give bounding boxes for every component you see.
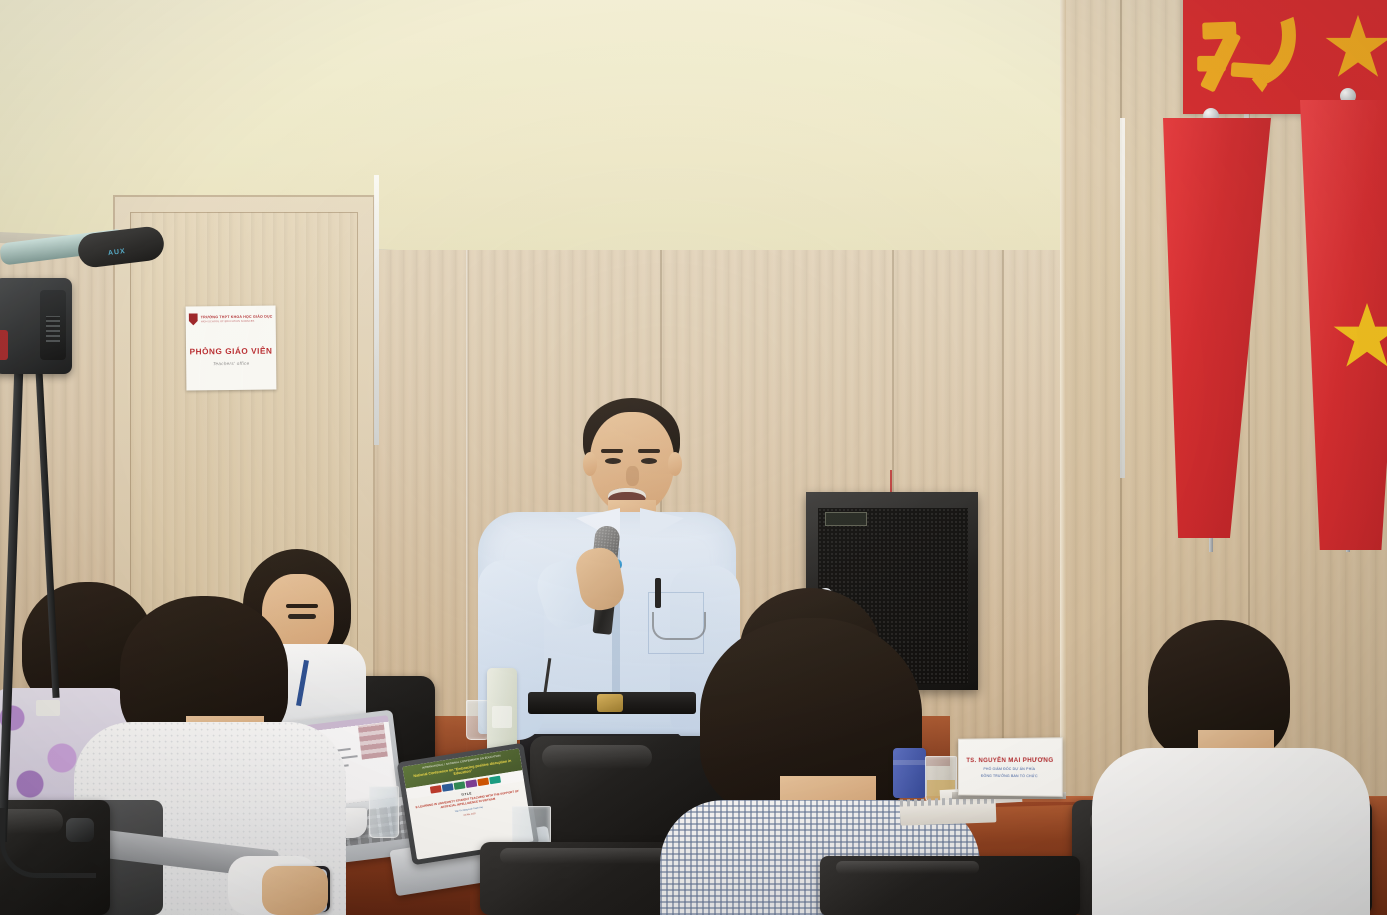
attendee-1-brow — [286, 604, 318, 608]
drinking-glass — [369, 786, 399, 838]
sign-subtitle: Teachers' office — [213, 361, 250, 366]
speaker-nose — [626, 466, 639, 486]
sign-logo-row: TRƯỜNG THPT KHOA HỌC GIÁO DỤC HIGH SCHOO… — [189, 313, 273, 326]
camera-vent — [46, 316, 60, 342]
tumbler-band — [893, 760, 926, 765]
sign-organization-sub: HIGH SCHOOL OF EDUCATION SCIENCES — [201, 320, 273, 324]
hammer-and-sickle-icon — [1192, 6, 1322, 111]
wall-sign: TRƯỜNG THPT KHOA HỌC GIÁO DỤC HIGH SCHOO… — [186, 306, 277, 391]
speaker-ear-right — [668, 452, 682, 476]
attendee-5-body — [1092, 748, 1370, 915]
sponsor-logo-icon — [489, 776, 501, 785]
glasses-icon — [652, 612, 706, 640]
school-crest-icon — [189, 313, 198, 325]
sponsor-logo-icon — [465, 779, 477, 788]
bottle-label — [492, 706, 512, 728]
nameplate-line-2: ĐỒNG TRƯỞNG BAN TỔ CHỨC — [981, 773, 1038, 777]
sign-organization: TRƯỜNG THPT KHOA HỌC GIÁO DỤC — [201, 314, 273, 319]
attendee-1-eye — [288, 614, 316, 619]
conference-room-photo: TRƯỜNG THPT KHOA HỌC GIÁO DỤC HIGH SCHOO… — [0, 0, 1387, 915]
sponsor-logo-icon — [453, 781, 465, 790]
camera-cable — [0, 808, 96, 878]
panel-groove — [1002, 250, 1004, 810]
speaker-brow-right — [638, 449, 660, 453]
speaker-ear-left — [583, 452, 597, 476]
speaker-brow-left — [601, 449, 623, 453]
flag-star-icon — [1330, 300, 1387, 374]
sign-org-block: TRƯỜNG THPT KHOA HỌC GIÁO DỤC HIGH SCHOO… — [201, 314, 273, 323]
sign-title: PHÒNG GIÁO VIÊN — [190, 347, 273, 357]
nameplate: TS. NGUYỄN MAI PHƯƠNG PHÓ GIÁM ĐỐC DỰ ÁN… — [958, 737, 1063, 797]
sponsor-logo-icon — [429, 785, 441, 794]
light-strip — [1120, 118, 1125, 478]
nameplate-line-1: PHÓ GIÁM ĐỐC DỰ ÁN PHÍA — [983, 766, 1035, 770]
gold-star-icon — [1322, 12, 1387, 84]
belt-buckle — [597, 694, 623, 712]
speaker-eye-left — [605, 458, 621, 464]
sponsor-logo-icon — [477, 777, 489, 786]
attendee-2-badge — [36, 700, 60, 716]
wood-column-edge — [1060, 0, 1066, 830]
pen-icon — [655, 578, 661, 608]
camera-red-accent — [0, 330, 8, 360]
speaker-eye-right — [641, 458, 657, 464]
nameplate-name: TS. NGUYỄN MAI PHƯƠNG — [966, 756, 1053, 763]
travel-tumbler — [893, 748, 926, 798]
office-chair[interactable] — [820, 856, 1080, 915]
speaker-badge — [825, 512, 867, 526]
light-strip — [374, 175, 379, 445]
attendee-3-hand — [262, 866, 328, 915]
sponsor-logo-icon — [441, 783, 453, 792]
